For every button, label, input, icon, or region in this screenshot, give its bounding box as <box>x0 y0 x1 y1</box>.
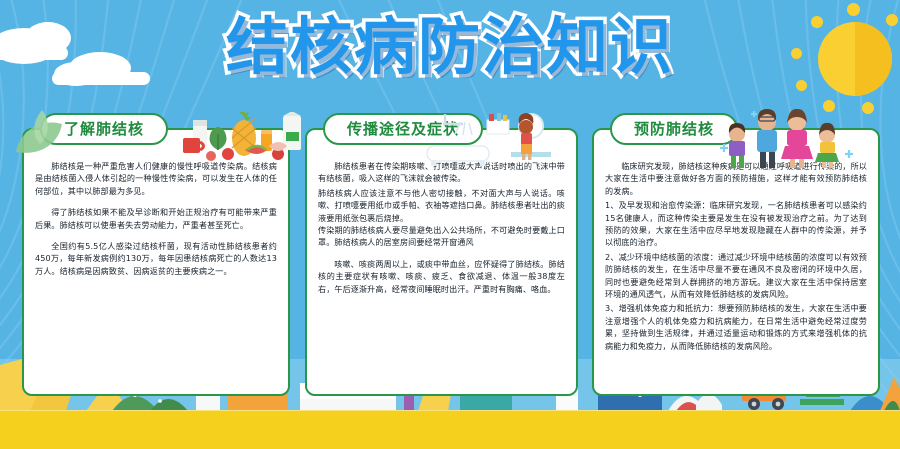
panel-list-item: 3、增强机体免疫力和抵抗力：想要预防肺结核的发生，大家在生活中要注意增强个人的机… <box>605 302 867 352</box>
panel-container: 了解肺结核 肺结核是一种严重危害人们健康的慢性呼吸道传染病。结核病是由结核菌入侵… <box>0 128 900 396</box>
panel-body-transmission: 肺结核患者在传染期咳嗽、打喷嚏或大声说话时喷出的飞沫中带有结核菌，吸入这样的飞沫… <box>307 130 576 394</box>
panel-body-prevention: 临床研究发现，肺结核这种疾病是可以通过呼吸道进行传染的，所以大家在生活中要注意做… <box>594 130 878 394</box>
poster-title: 结核病防治知识 <box>226 14 674 79</box>
panel-transmission: 传播途径及症状 肺结核患者在传染期咳嗽、打喷嚏或大声说话时喷出的飞沫中带有结核菌… <box>305 128 578 396</box>
panel-prevention: 预防肺结核 临床研究发现，肺结核这种疾病是可以通过呼吸道进行传染的，所以大家在生… <box>592 128 880 396</box>
panel-paragraph: 全国约有5.5亿人感染过结核杆菌，现有活动性肺结核患者约450万，每年新发病例约… <box>35 240 277 277</box>
panel-list-item: 1、及早发现和治愈传染源：临床研究发现，一名肺结核患者可以感染约15名健康人，而… <box>605 199 867 249</box>
leaf-decoration <box>2 104 72 174</box>
healthy-food-illustration <box>183 112 311 166</box>
sun-ray-dot <box>862 102 874 114</box>
panel-header-label: 了解肺结核 <box>64 120 144 138</box>
panel-list-item: 2、减少环境中结核菌的浓度：通过减少环境中结核菌的浓度可以有效预防肺结核的发生，… <box>605 251 867 301</box>
poster-root: 结核病防治知识 <box>0 0 900 449</box>
panel-header-label: 预防肺结核 <box>634 120 714 138</box>
poster-title-container: 结核病防治知识 <box>0 14 900 79</box>
panel-paragraph: 咳嗽、咳痰两周以上，或痰中带血丝，应怀疑得了肺结核。肺结核的主要症状有咳嗽、咳痰… <box>318 258 565 295</box>
sun-ray-dot <box>796 80 807 91</box>
panel-paragraph: 得了肺结核如果不能及早诊断和开始正规治疗有可能带来严重后果。肺结核可以使患者失去… <box>35 206 277 231</box>
family-of-four-illustration <box>715 108 855 168</box>
bottom-bar <box>0 411 900 449</box>
bathroom-illustration <box>425 110 580 168</box>
panel-paragraph: 肺结核病人应该注意不与他人密切接触，不对面大声与人说话。咳嗽、打喷嚏要用纸巾或手… <box>318 187 565 224</box>
panel-paragraph: 传染期的肺结核病人要尽量避免出入公共场所，不可避免时要戴上口罩。肺结核病人的居室… <box>318 224 565 249</box>
